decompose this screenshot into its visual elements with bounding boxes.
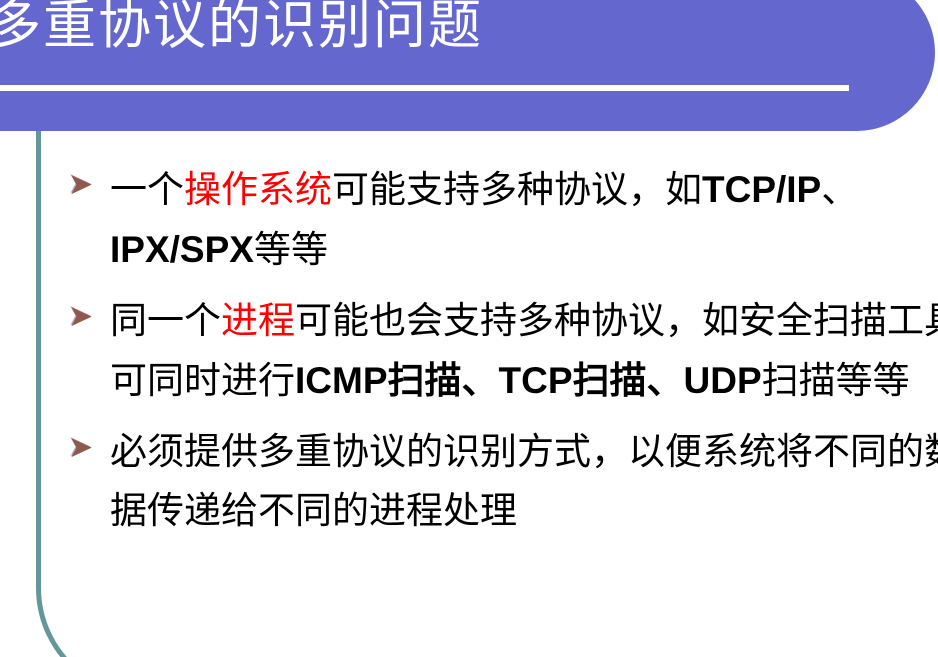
text-segment-latin: UDP — [684, 360, 762, 401]
text-segment-highlight: 操作系统 — [184, 170, 332, 211]
text-segment: 必须提供多重协议的识别方式，以便系统将不同的数据传递给不同的进程处理 — [110, 432, 938, 532]
arrow-bullet-icon: ➤ — [68, 423, 102, 473]
list-item: ➤ 同一个进程可能也会支持多种协议，如安全扫描工具可同时进行ICMP扫描、TCP… — [62, 292, 938, 411]
text-segment-latin: ICMP — [295, 360, 388, 401]
text-segment-highlight: 进程 — [221, 301, 295, 342]
slide-canvas: 多重协议的识别问题 ➤ 一个操作系统可能支持多种协议，如TCP/IP、IPX/S… — [0, 0, 938, 657]
arrow-bullet-icon: ➤ — [68, 292, 102, 342]
text-segment: 可能支持多种协议，如 — [332, 170, 702, 211]
text-segment: 同一个 — [110, 301, 221, 342]
text-segment: 等等 — [254, 230, 328, 271]
title-banner: 多重协议的识别问题 — [0, 0, 935, 131]
text-segment-bold: 扫描、 — [388, 361, 499, 402]
arrow-bullet-icon: ➤ — [68, 160, 102, 210]
text-segment-latin: IPX/SPX — [110, 229, 254, 270]
title-underline-rule — [0, 85, 849, 91]
text-segment: 、 — [821, 170, 858, 211]
text-segment-latin: TCP — [499, 360, 573, 401]
list-item-text: 必须提供多重协议的识别方式，以便系统将不同的数据传递给不同的进程处理 — [110, 432, 938, 532]
text-segment-bold: 扫描、 — [573, 361, 684, 402]
text-segment: 一个 — [110, 170, 184, 211]
list-item-text: 同一个进程可能也会支持多种协议，如安全扫描工具可同时进行ICMP扫描、TCP扫描… — [110, 301, 938, 402]
text-segment: 扫描等等 — [762, 361, 910, 402]
list-item: ➤ 一个操作系统可能支持多种协议，如TCP/IP、IPX/SPX等等 — [62, 160, 938, 280]
list-item: ➤ 必须提供多重协议的识别方式，以便系统将不同的数据传递给不同的进程处理 — [62, 423, 938, 541]
page-title: 多重协议的识别问题 — [0, 0, 483, 62]
list-item-text: 一个操作系统可能支持多种协议，如TCP/IP、IPX/SPX等等 — [110, 170, 858, 271]
text-segment-latin: TCP/IP — [702, 169, 821, 210]
bullet-list: ➤ 一个操作系统可能支持多种协议，如TCP/IP、IPX/SPX等等 ➤ 同一个… — [62, 160, 922, 541]
